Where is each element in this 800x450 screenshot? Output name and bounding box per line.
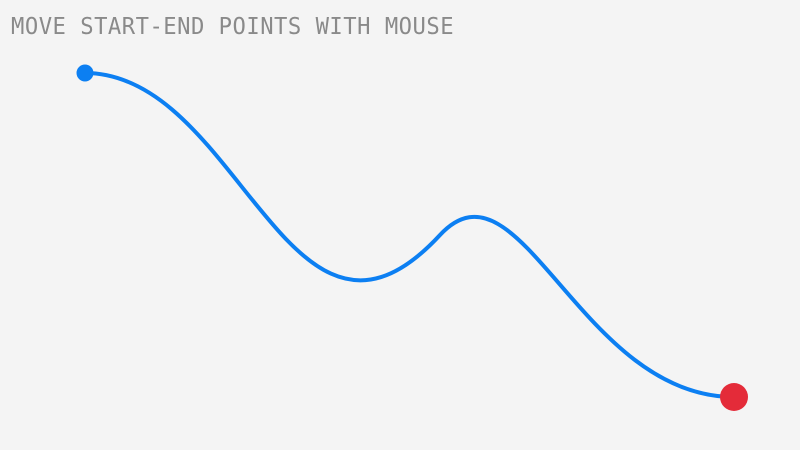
bezier-curve [85, 73, 734, 397]
page-title: MOVE START-END POINTS WITH MOUSE [11, 13, 454, 41]
app-root: MOVE START-END POINTS WITH MOUSE [0, 0, 800, 450]
curve-end-handle[interactable] [720, 383, 748, 411]
curve-scene [0, 0, 800, 450]
curve-canvas[interactable]: MOVE START-END POINTS WITH MOUSE [0, 0, 800, 450]
curve-start-handle[interactable] [77, 65, 94, 82]
